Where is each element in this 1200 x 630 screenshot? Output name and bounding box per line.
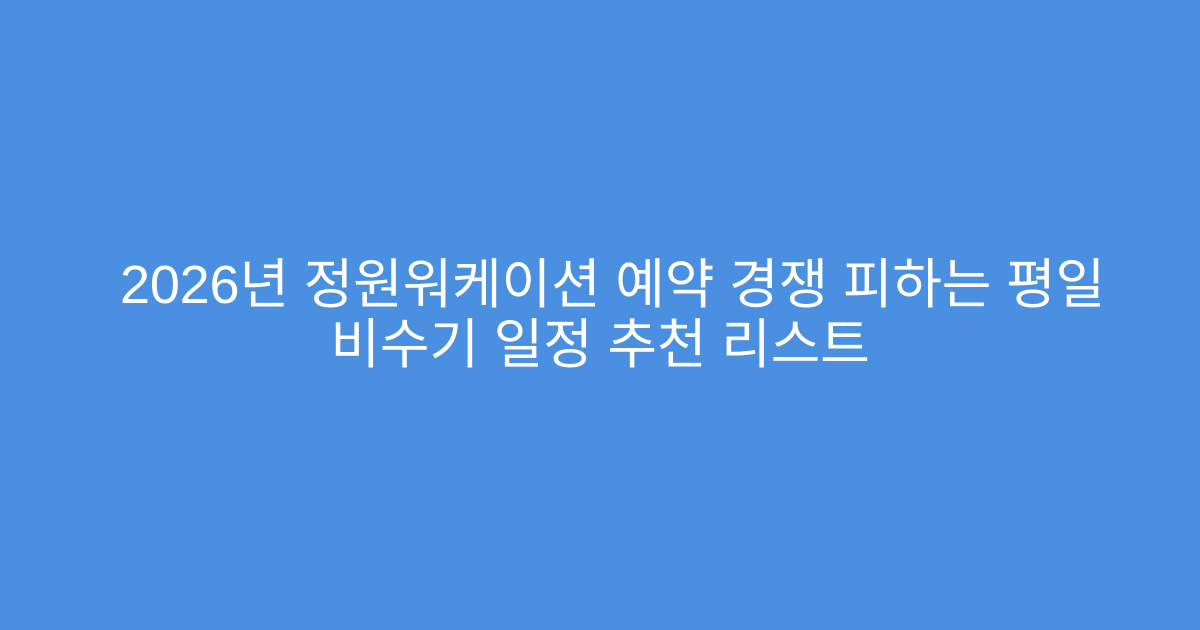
page-title-line-2: 비수기 일정 추천 리스트 [120,315,1080,375]
page-title: 2026년 정원워케이션 예약 경쟁 피하는 평일 비수기 일정 추천 리스트 [100,255,1100,375]
page-title-line-1: 2026년 정원워케이션 예약 경쟁 피하는 평일 [120,255,1080,315]
og-card-canvas: 2026년 정원워케이션 예약 경쟁 피하는 평일 비수기 일정 추천 리스트 [0,0,1200,630]
